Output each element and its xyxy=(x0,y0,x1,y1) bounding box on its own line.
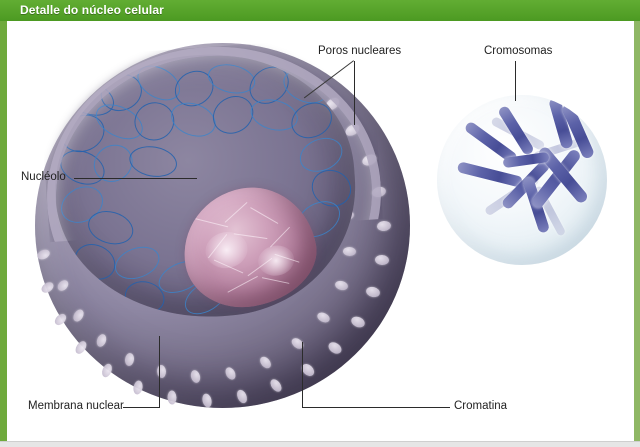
nucleolus-highlight xyxy=(256,243,297,279)
nucleus-illustration xyxy=(25,29,420,414)
nucleolus-strand xyxy=(227,276,258,293)
frame-bottom-edge xyxy=(0,441,640,447)
leader-line-cromatina-horizontal xyxy=(302,407,450,408)
page-title: Detalle do núcleo celular xyxy=(20,3,164,17)
chromatin-fiber xyxy=(110,241,163,285)
nuclear-pore xyxy=(167,390,176,404)
leader-line-membrana-horizontal xyxy=(123,407,159,408)
frame-right-stripe xyxy=(634,0,640,441)
figure-canvas: Poros nucleares Cromosomas Nucléolo Memb… xyxy=(7,21,634,441)
leader-line-poros-vertical xyxy=(354,61,355,125)
leader-line-nucleolo xyxy=(74,178,197,179)
label-cromosomas: Cromosomas xyxy=(484,45,552,58)
label-cromatina: Cromatina xyxy=(454,400,507,413)
label-nucleolo: Nucléolo xyxy=(21,171,66,184)
frame-left-stripe xyxy=(0,0,7,441)
title-bar: Detalle do núcleo celular xyxy=(0,0,640,21)
nuclear-pore xyxy=(132,380,143,395)
leader-line-membrana-vertical xyxy=(159,336,160,408)
nucleolus-strand xyxy=(262,277,290,284)
label-membrana-nuclear: Membrana nuclear xyxy=(28,400,124,413)
figure-page: Detalle do núcleo celular xyxy=(0,0,640,447)
leader-line-cromatina-vertical xyxy=(302,342,303,408)
chromosome-inset xyxy=(437,95,607,265)
label-poros-nucleares: Poros nucleares xyxy=(318,45,401,58)
leader-line-cromosomas xyxy=(515,61,516,101)
